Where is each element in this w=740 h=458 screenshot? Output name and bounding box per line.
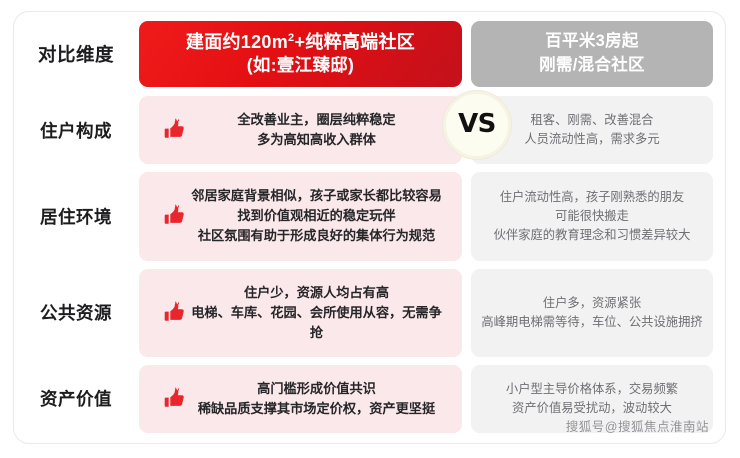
text-line: 人员流动性高，需求多元: [524, 130, 659, 149]
text-line: 可能很快搬走: [494, 207, 691, 226]
standard-cell-box: 住户多，资源紧张高峰期电梯需等待，车位、公共设施拥挤: [471, 269, 713, 357]
premium-title-line1-pre: 建面约120m: [186, 32, 288, 52]
premium-cell-text: 高门槛形成价值共识稀缺品质支撑其市场定价权，资产更坚挺: [189, 379, 448, 419]
vs-badge: VS: [443, 91, 511, 159]
text-line: 住户少，资源人均占有高: [189, 283, 444, 303]
thumbs-up-icon: [159, 201, 189, 231]
text-line: 住户流动性高，孩子刚熟悉的朋友: [494, 188, 691, 207]
standard-cell-text: 住户多，资源紧张高峰期电梯需等待，车位、公共设施拥挤: [481, 294, 702, 332]
spacer: [462, 172, 471, 260]
label-column-header: 对比维度: [22, 21, 130, 87]
text-line: 多为高知高收入群体: [189, 130, 444, 150]
premium-title-line1: 建面约120m2+纯粹高端社区: [186, 30, 415, 54]
spacer: [130, 269, 139, 357]
text-line: 电梯、车库、花园、会所使用从容，无需争抢: [189, 303, 444, 343]
premium-cell-box: 住户少，资源人均占有高电梯、车库、花园、会所使用从容，无需争抢: [139, 269, 462, 357]
row-label: 公共资源: [22, 269, 130, 357]
thumbs-up-icon: [159, 115, 189, 145]
standard-title-line1: 百平米3房起: [545, 30, 638, 54]
text-line: 住户多，资源紧张: [481, 294, 702, 313]
spacer: [130, 96, 139, 164]
text-line: 租客、刚需、改善混合: [524, 111, 659, 130]
text-line: 伙伴家庭的教育理念和习惯差异较大: [494, 226, 691, 245]
standard-cell: 住户多，资源紧张高峰期电梯需等待，车位、公共设施拥挤: [471, 269, 713, 357]
premium-cell: 高门槛形成价值共识稀缺品质支撑其市场定价权，资产更坚挺: [139, 365, 462, 433]
spacer: [462, 365, 471, 433]
premium-title-box: 建面约120m2+纯粹高端社区 (如:壹江臻邸): [139, 21, 462, 87]
premium-title-line2: (如:壹江臻邸): [247, 54, 354, 78]
premium-cell-text: 全改善业主，圈层纯粹稳定多为高知高收入群体: [189, 110, 448, 150]
standard-cell: 住户流动性高，孩子刚熟悉的朋友可能很快搬走伙伴家庭的教育理念和习惯差异较大: [471, 172, 713, 260]
spacer: [462, 21, 471, 87]
thumbs-up-icon: [159, 298, 189, 328]
comparison-panel: 对比维度 建面约120m2+纯粹高端社区 (如:壹江臻邸) 百平米3房起 刚需/…: [13, 11, 726, 444]
text-line: 邻居家庭背景相似，孩子或家长都比较容易: [189, 186, 444, 206]
spacer: [130, 172, 139, 260]
standard-title-line2: 刚需/混合社区: [539, 54, 645, 78]
premium-cell-text: 住户少，资源人均占有高电梯、车库、花园、会所使用从容，无需争抢: [189, 283, 448, 343]
premium-cell-box: 全改善业主，圈层纯粹稳定多为高知高收入群体: [139, 96, 462, 164]
header-row: 对比维度 建面约120m2+纯粹高端社区 (如:壹江臻邸) 百平米3房起 刚需/…: [22, 21, 713, 87]
premium-cell-box: 邻居家庭背景相似，孩子或家长都比较容易找到价值观相近的稳定玩伴社区氛围有助于形成…: [139, 172, 462, 260]
text-line: 社区氛围有助于形成良好的集体行为规范: [189, 226, 444, 246]
comparison-grid: 对比维度 建面约120m2+纯粹高端社区 (如:壹江臻邸) 百平米3房起 刚需/…: [14, 12, 725, 443]
text-line: 小户型主导价格体系，交易频繁: [506, 380, 678, 399]
premium-cell-box: 高门槛形成价值共识稀缺品质支撑其市场定价权，资产更坚挺: [139, 365, 462, 433]
premium-cell: 邻居家庭背景相似，孩子或家长都比较容易找到价值观相近的稳定玩伴社区氛围有助于形成…: [139, 172, 462, 260]
row-label: 住户构成: [22, 96, 130, 164]
row-label: 资产价值: [22, 365, 130, 433]
table-row: 居住环境邻居家庭背景相似，孩子或家长都比较容易找到价值观相近的稳定玩伴社区氛围有…: [22, 172, 713, 260]
vs-badge-label: VS: [458, 111, 496, 137]
premium-title-line1-post: +纯粹高端社区: [294, 32, 415, 52]
text-line: 找到价值观相近的稳定玩伴: [189, 206, 444, 226]
spacer: [462, 269, 471, 357]
text-line: 全改善业主，圈层纯粹稳定: [189, 110, 444, 130]
standard-header-cell: 百平米3房起 刚需/混合社区: [471, 21, 713, 87]
thumbs-up-icon: [159, 384, 189, 414]
text-line: 高门槛形成价值共识: [189, 379, 444, 399]
premium-cell-text: 邻居家庭背景相似，孩子或家长都比较容易找到价值观相近的稳定玩伴社区氛围有助于形成…: [189, 186, 448, 246]
premium-cell: 全改善业主，圈层纯粹稳定多为高知高收入群体: [139, 96, 462, 164]
premium-header-cell: 建面约120m2+纯粹高端社区 (如:壹江臻邸): [139, 21, 462, 87]
premium-cell: 住户少，资源人均占有高电梯、车库、花园、会所使用从容，无需争抢: [139, 269, 462, 357]
standard-cell-text: 租客、刚需、改善混合人员流动性高，需求多元: [524, 111, 659, 149]
standard-cell-text: 住户流动性高，孩子刚熟悉的朋友可能很快搬走伙伴家庭的教育理念和习惯差异较大: [494, 188, 691, 245]
spacer: [130, 365, 139, 433]
standard-title-box: 百平米3房起 刚需/混合社区: [471, 21, 713, 87]
spacer: [130, 21, 139, 87]
watermark: 搜狐号@搜狐焦点淮南站: [566, 416, 709, 435]
table-row: 住户构成全改善业主，圈层纯粹稳定多为高知高收入群体租客、刚需、改善混合人员流动性…: [22, 96, 713, 164]
text-line: 高峰期电梯需等待，车位、公共设施拥挤: [481, 313, 702, 332]
row-label: 居住环境: [22, 172, 130, 260]
text-line: 稀缺品质支撑其市场定价权，资产更坚挺: [189, 399, 444, 419]
standard-cell-text: 小户型主导价格体系，交易频繁资产价值易受扰动，波动较大: [506, 380, 678, 418]
standard-cell-box: 住户流动性高，孩子刚熟悉的朋友可能很快搬走伙伴家庭的教育理念和习惯差异较大: [471, 172, 713, 260]
table-row: 公共资源住户少，资源人均占有高电梯、车库、花园、会所使用从容，无需争抢住户多，资…: [22, 269, 713, 357]
